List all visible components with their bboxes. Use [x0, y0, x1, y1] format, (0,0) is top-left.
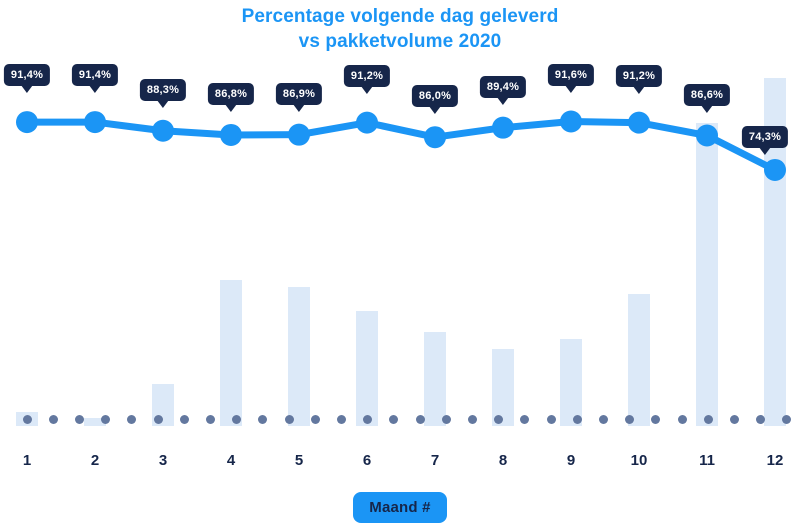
x-axis-ticks: 123456789101112 [0, 452, 800, 482]
x-tick-5: 5 [295, 452, 303, 469]
data-point-month-12[interactable] [764, 159, 786, 181]
chart-root: Percentage volgende dag geleverd vs pakk… [0, 0, 800, 532]
x-tick-2: 2 [91, 452, 99, 469]
value-badge-month-10: 91,2% [616, 65, 662, 87]
value-badge-month-8: 89,4% [480, 76, 526, 98]
data-point-month-3[interactable] [152, 120, 174, 142]
x-tick-3: 3 [159, 452, 167, 469]
value-badge-month-3: 88,3% [140, 79, 186, 101]
x-tick-6: 6 [363, 452, 371, 469]
x-tick-10: 10 [631, 452, 648, 469]
value-badge-month-9: 91,6% [548, 64, 594, 86]
value-badge-month-7: 86,0% [412, 85, 458, 107]
value-badge-month-12: 74,3% [742, 126, 788, 148]
data-point-month-6[interactable] [356, 112, 378, 134]
x-tick-12: 12 [767, 452, 784, 469]
x-axis-title-pill: Maand # [353, 492, 446, 523]
x-tick-7: 7 [431, 452, 439, 469]
x-tick-8: 8 [499, 452, 507, 469]
line-series-percentage [0, 0, 800, 440]
data-point-month-8[interactable] [492, 117, 514, 139]
data-point-month-9[interactable] [560, 111, 582, 133]
data-point-month-1[interactable] [16, 111, 38, 133]
data-point-month-10[interactable] [628, 112, 650, 134]
value-badge-month-4: 86,8% [208, 83, 254, 105]
x-tick-11: 11 [699, 452, 715, 469]
x-tick-9: 9 [567, 452, 575, 469]
data-point-month-5[interactable] [288, 124, 310, 146]
plot-area: 91,4%91,4%88,3%86,8%86,9%91,2%86,0%89,4%… [0, 0, 800, 440]
data-point-month-11[interactable] [696, 125, 718, 147]
series-markers [16, 111, 786, 181]
value-badge-month-1: 91,4% [4, 64, 50, 86]
value-badge-month-2: 91,4% [72, 64, 118, 86]
data-point-month-7[interactable] [424, 126, 446, 148]
value-badge-month-5: 86,9% [276, 83, 322, 105]
value-badge-month-6: 91,2% [344, 65, 390, 87]
x-tick-1: 1 [23, 452, 31, 469]
value-badge-month-11: 86,6% [684, 84, 730, 106]
data-point-month-4[interactable] [220, 124, 242, 146]
series-line-path [27, 122, 775, 170]
data-point-month-2[interactable] [84, 111, 106, 133]
x-tick-4: 4 [227, 452, 235, 469]
x-axis-title-wrap: Maand # [0, 492, 800, 523]
